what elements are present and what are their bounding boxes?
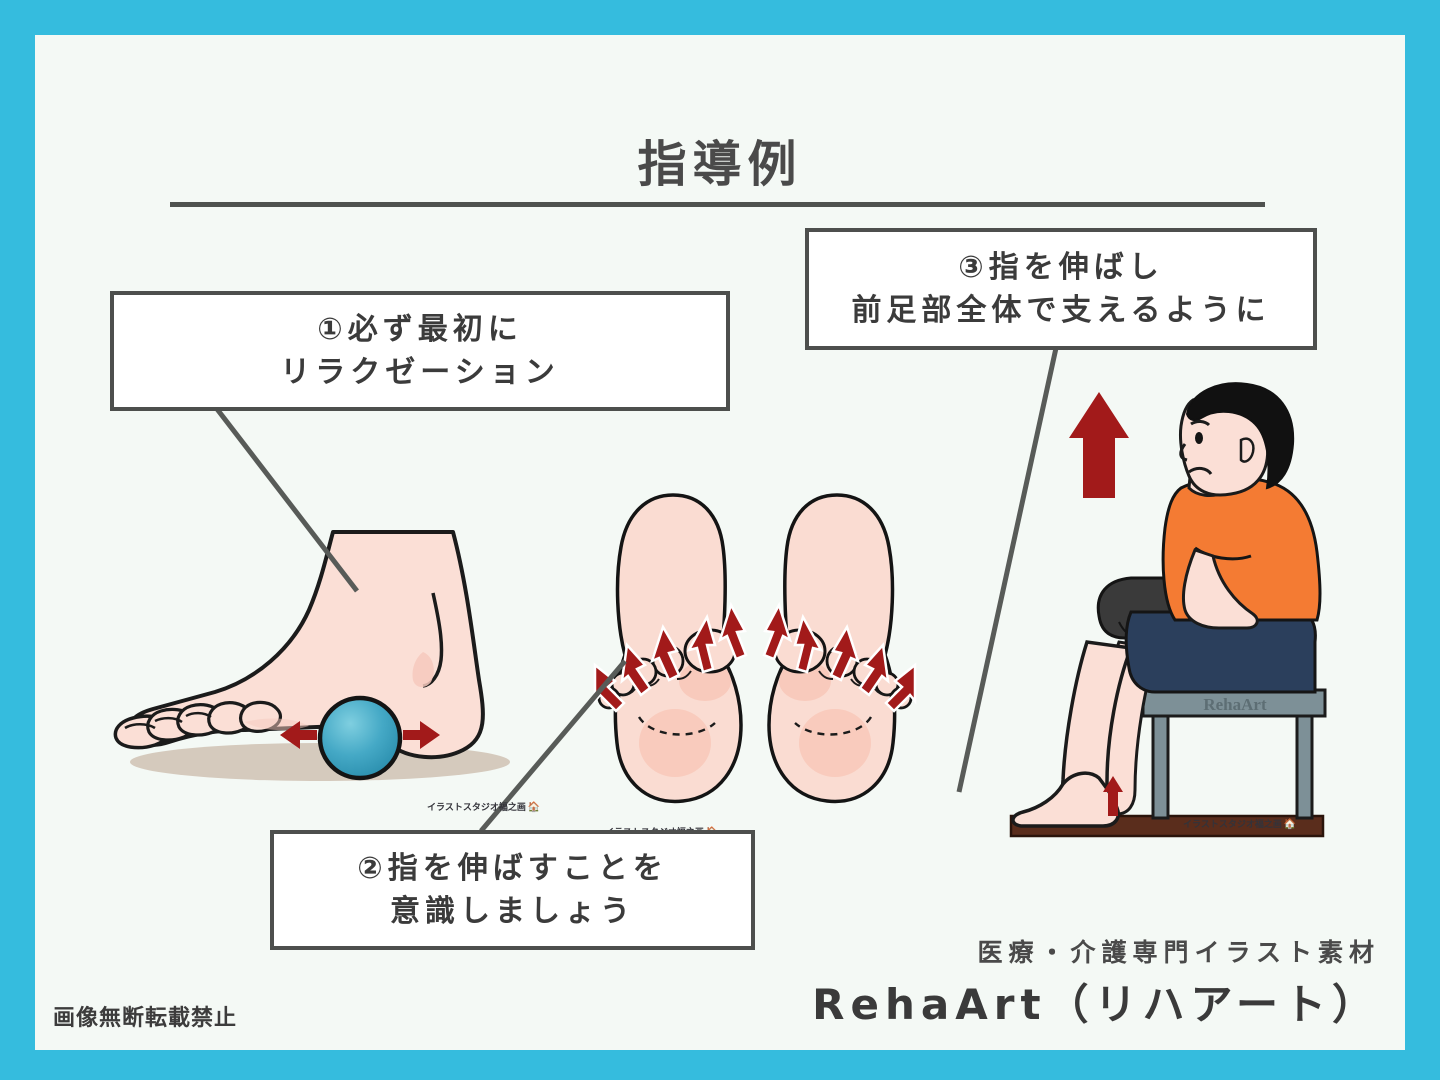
slide-root: 指導例 xyxy=(0,0,1440,1080)
slide-panel: 指導例 xyxy=(35,35,1405,1050)
brand-name: RehaArt（リハアート） xyxy=(812,971,1380,1032)
leader-line-2 xyxy=(455,655,635,845)
eye xyxy=(1195,432,1203,444)
arrow-knee-up xyxy=(1069,392,1129,498)
title-divider xyxy=(170,202,1265,207)
massage-ball xyxy=(320,698,400,778)
copyright-notice: 画像無断転載禁止 xyxy=(53,1000,237,1032)
leader-line-1 xyxy=(175,405,375,605)
callout-1-line-2: リラクゼーション xyxy=(114,351,726,395)
sole-right-arch xyxy=(799,709,871,777)
callout-2-line-1: ②指を伸ばすことを xyxy=(274,847,751,891)
ear xyxy=(1241,439,1253,462)
callout-box-1: ①必ず最初に リラクゼーション xyxy=(110,291,730,411)
callout-1-line-1: ①必ず最初に xyxy=(114,308,726,352)
brand-block: 医療・介護専門イラスト素材 RehaArt（リハアート） xyxy=(812,933,1380,1032)
stool-watermark: RehaArt xyxy=(1203,695,1267,714)
stool-leg-front xyxy=(1153,716,1168,818)
studio-credit-foot: イラストスタジオ福之画🏠 xyxy=(427,800,540,813)
sole-left-arch xyxy=(639,709,711,777)
stool-leg-back xyxy=(1297,716,1312,818)
brand-subtitle: 医療・介護専門イラスト素材 xyxy=(812,933,1380,969)
callout-box-3: ③指を伸ばし 前足部全体で支えるように xyxy=(805,228,1317,350)
studio-credit-seated: イラストスタジオ福之画🏠 xyxy=(1183,817,1296,830)
page-title: 指導例 xyxy=(35,125,1405,196)
callout-box-2: ②指を伸ばすことを 意識しましょう xyxy=(270,830,755,950)
callout-3-line-1: ③指を伸ばし xyxy=(809,246,1313,290)
stool: RehaArt xyxy=(1143,690,1325,818)
leader-line-3 xyxy=(945,310,1075,800)
callout-2-line-2: 意識しましょう xyxy=(274,890,751,934)
callout-3-line-2: 前足部全体で支えるように xyxy=(809,289,1313,333)
